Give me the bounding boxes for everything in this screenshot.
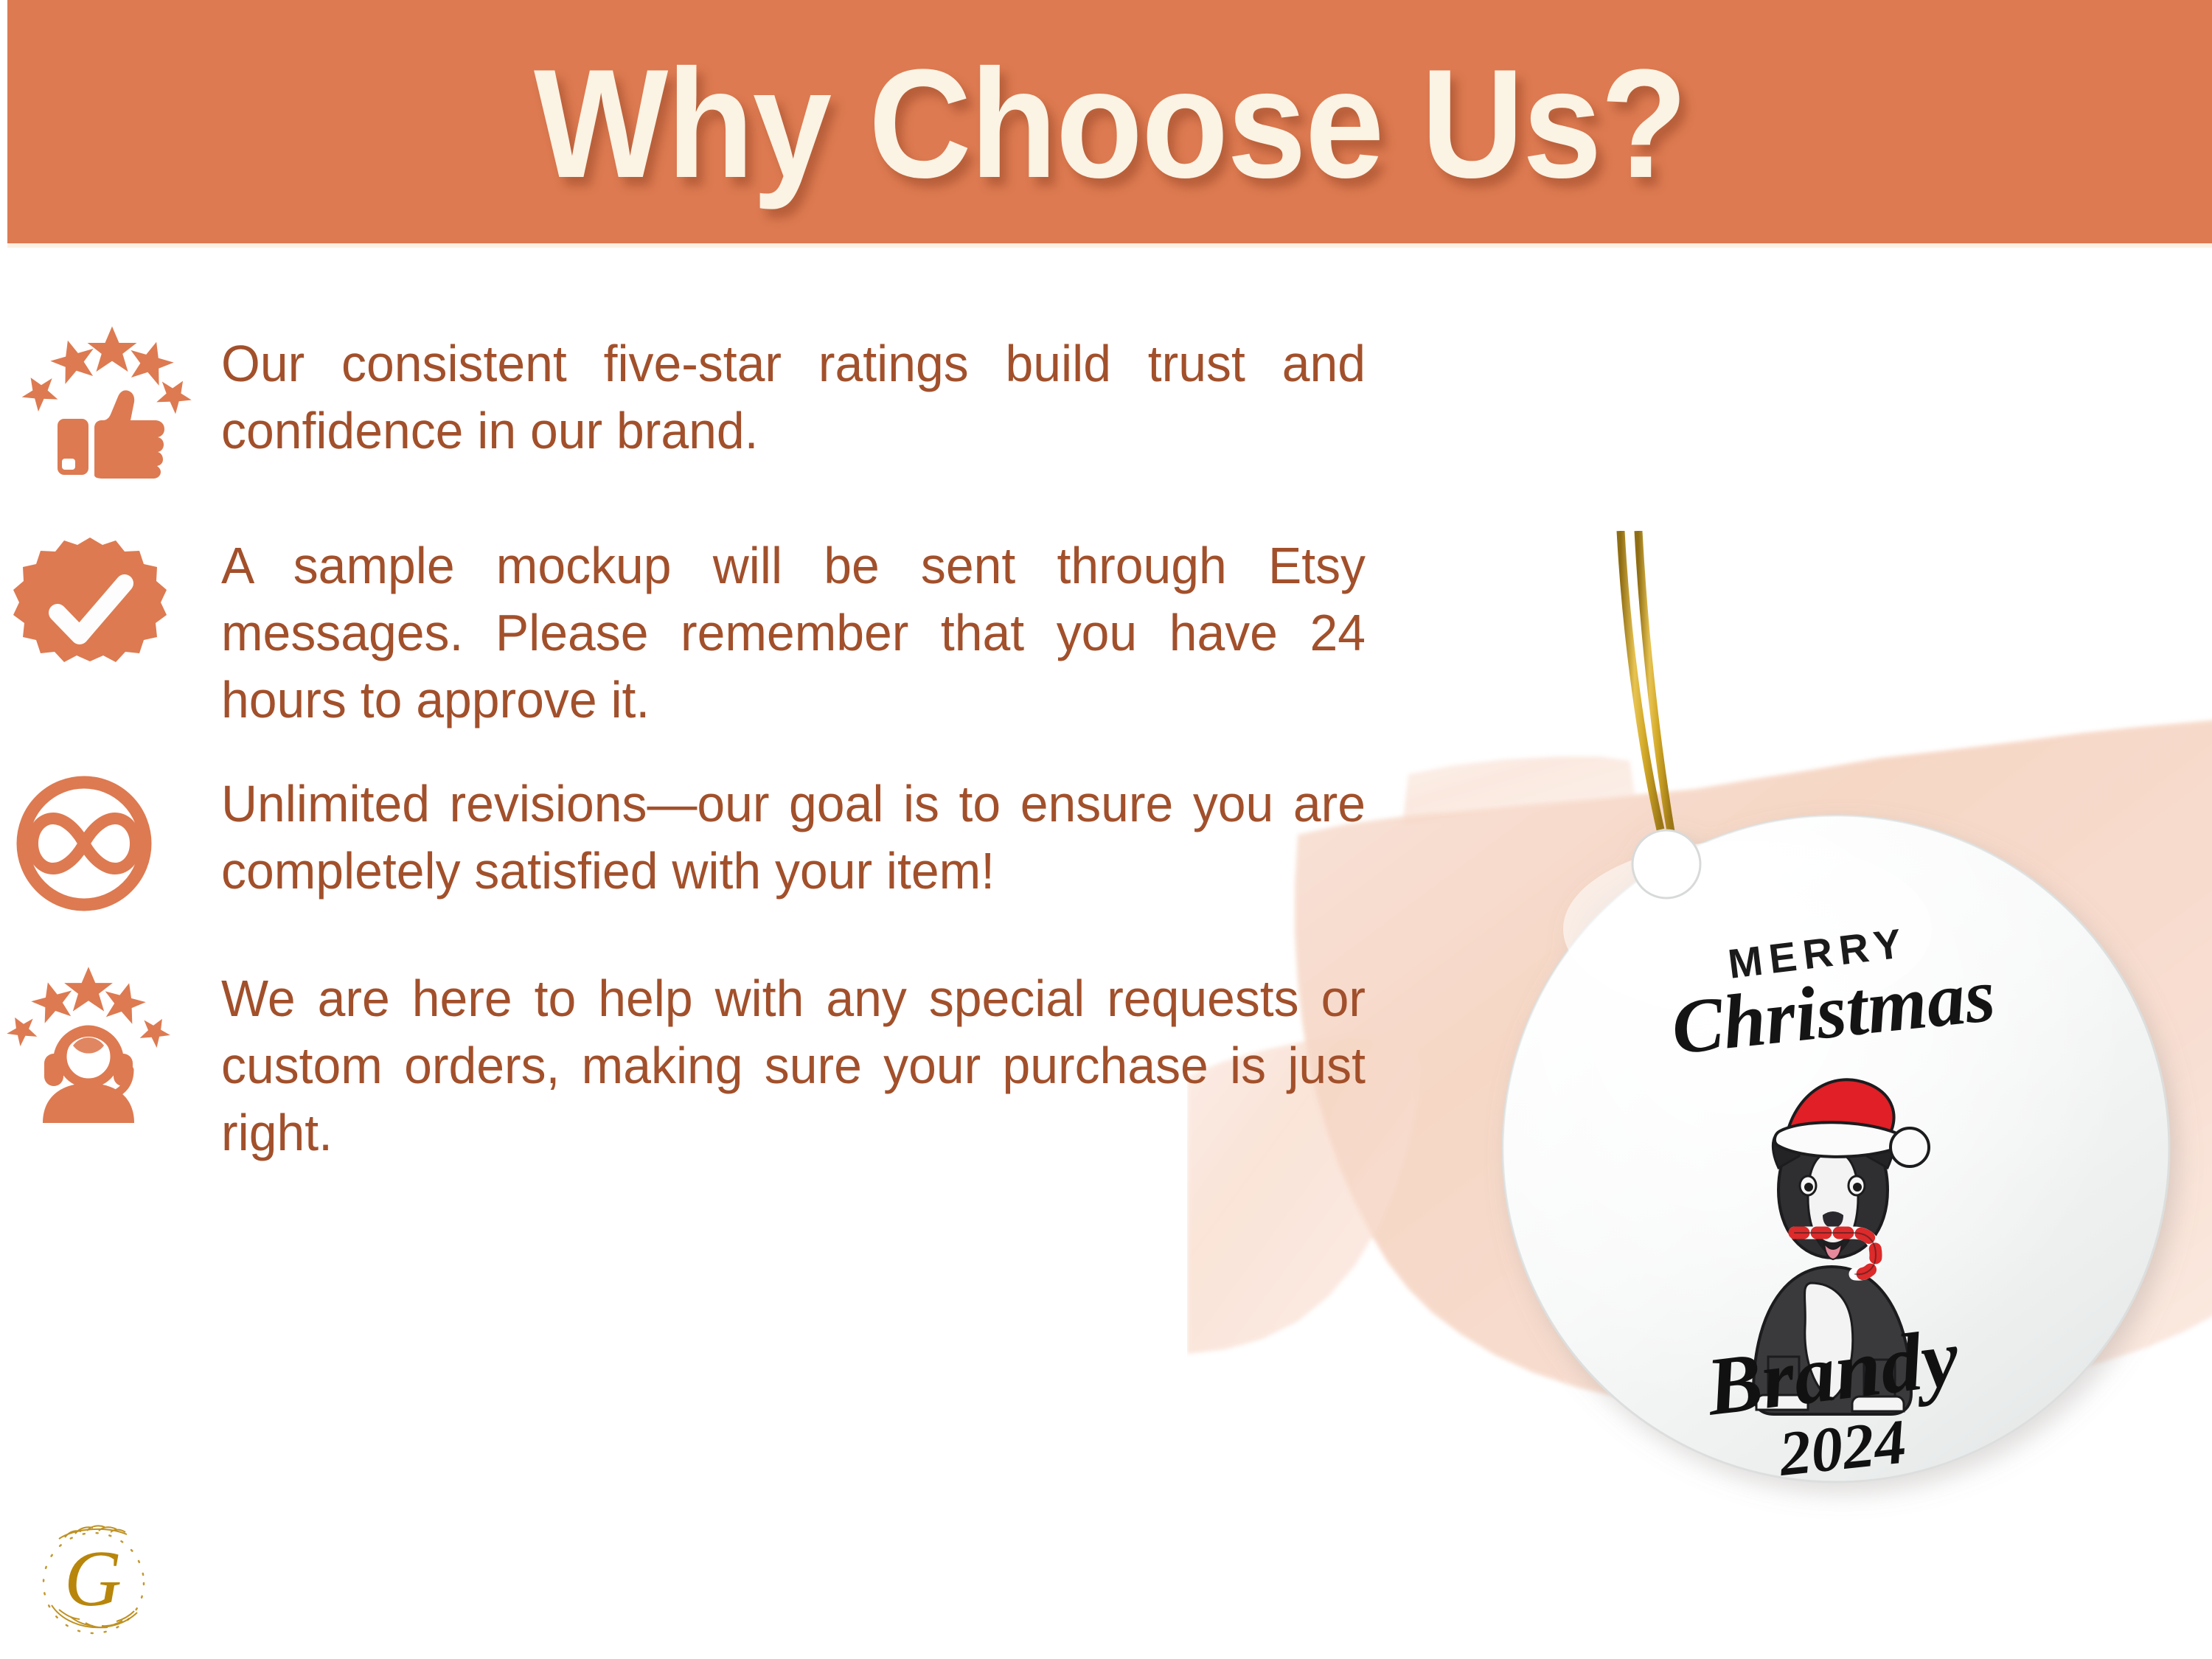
benefit-text: Our consistent five-star ratings build t… [221,317,1373,465]
benefit-item: We are here to help with any special req… [0,961,1482,1166]
header-underline-divider [7,243,2212,248]
page-title: Why Choose Us? [534,46,1686,201]
page-header-banner: Why Choose Us? [7,0,2212,243]
svg-text:2024: 2024 [1774,1405,1909,1489]
verified-badge-check-icon [0,526,201,696]
gold-cord [1621,531,1671,832]
benefit-text: Unlimited revisions—our goal is to ensur… [221,759,1373,905]
infinity-circle-icon [0,759,195,928]
brand-logo: G [29,1523,159,1644]
customer-support-stars-icon [0,961,199,1130]
brand-monogram-letter: G [64,1535,122,1623]
benefit-item: Unlimited revisions—our goal is to ensur… [0,759,1482,928]
benefit-item: Our consistent five-star ratings build t… [0,317,1482,487]
benefit-text: A sample mockup will be sent through Ets… [221,526,1373,734]
benefits-list: Our consistent five-star ratings build t… [0,317,1482,1200]
five-star-thumbs-up-icon [0,317,215,487]
product-ornament-image: MERRY Christmas [1467,531,2212,1526]
benefit-text: We are here to help with any special req… [221,961,1373,1166]
benefit-item: A sample mockup will be sent through Ets… [0,526,1482,734]
